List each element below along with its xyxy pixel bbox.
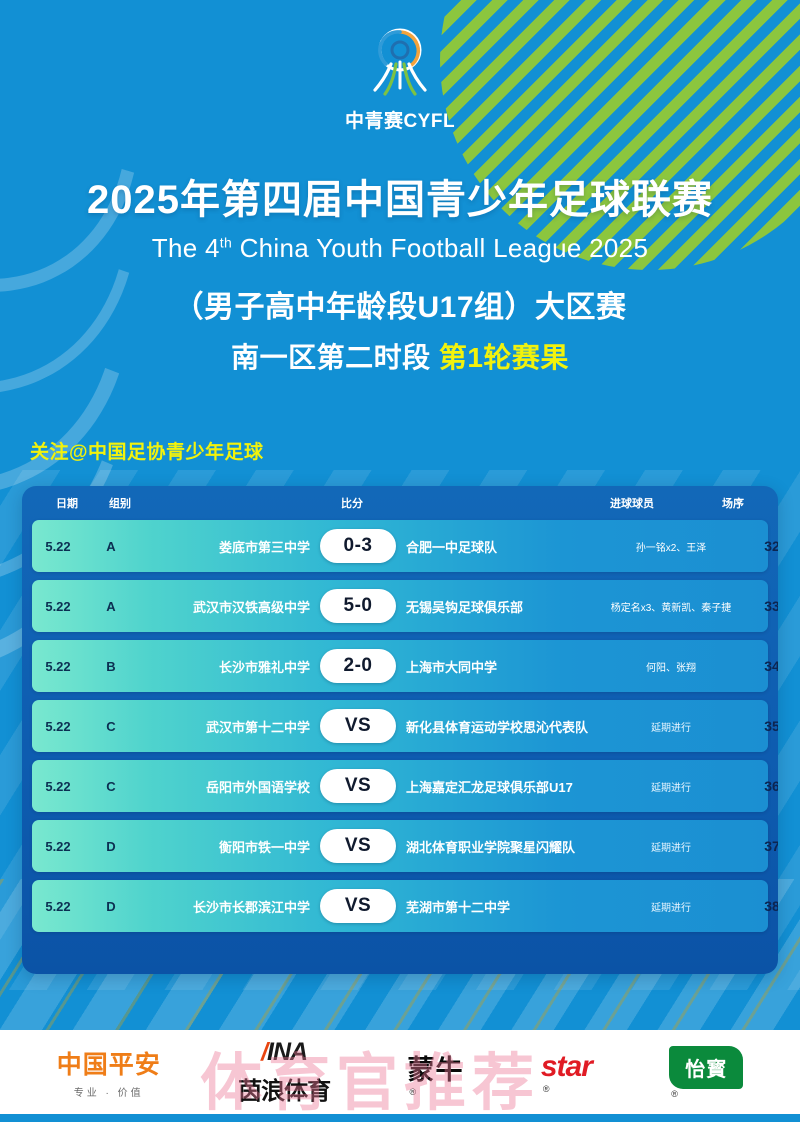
cell-order: 32: [746, 538, 778, 554]
table-row: 5.22C岳阳市外国语学校VS上海嘉定汇龙足球俱乐部U17延期进行36: [32, 760, 768, 812]
table-row: 5.22A武汉市汉铁高级中学5-0无锡吴钩足球俱乐部杨定名x3、黄新凯、秦子捷3…: [32, 580, 768, 632]
away-team-name: 上海市大同中学: [396, 657, 596, 676]
sponsor-footer: 中国平安 专业 · 价值 /INA 茵浪体育 蒙牛 ® star ® 怡寳 ®: [0, 1030, 800, 1114]
sponsor-star: star ®: [541, 1050, 592, 1094]
cell-match: 长沙市长郡滨江中学VS芜湖市第十二中学: [138, 889, 596, 923]
cell-match: 娄底市第三中学0-3合肥一中足球队: [138, 529, 596, 563]
table-row: 5.22A娄底市第三中学0-3合肥一中足球队孙一铭x2、王泽32: [32, 520, 768, 572]
subtitle-round-region: 南一区第二时段: [231, 342, 439, 373]
table-row: 5.22B长沙市雅礼中学2-0上海市大同中学何阳、张翔34: [32, 640, 768, 692]
logo-wordmark: 中青赛CYFL: [345, 106, 455, 133]
cell-scorer: 延期进行: [596, 839, 746, 854]
cell-order: 34: [746, 658, 778, 674]
score-badge: VS: [320, 829, 396, 863]
away-team-name: 合肥一中足球队: [396, 537, 596, 556]
page-title: 2025年第四届中国青少年足球联赛: [0, 178, 800, 223]
sponsor-yibao-name: 怡寳: [669, 1046, 743, 1089]
home-team-name: 武汉市汉铁高级中学: [138, 597, 320, 616]
cell-match: 武汉市第十二中学VS新化县体育运动学校思沁代表队: [138, 709, 596, 743]
cell-date: 5.22: [32, 539, 84, 554]
sponsor-yibao: 怡寳 ®: [669, 1046, 743, 1099]
cell-date: 5.22: [32, 779, 84, 794]
cell-scorer: 何阳、张翔: [596, 659, 746, 674]
home-team-name: 长沙市雅礼中学: [138, 657, 320, 676]
column-header-score: 比分: [147, 495, 557, 511]
subtitle-category: （男子高中年龄段U17组）大区赛: [0, 282, 800, 326]
sponsor-mengniu-reg: ®: [409, 1087, 416, 1097]
cell-date: 5.22: [32, 719, 84, 734]
sponsor-star-name: star: [541, 1050, 592, 1084]
cell-order: 37: [746, 838, 778, 854]
score-badge: 0-3: [320, 529, 396, 563]
score-badge: VS: [320, 769, 396, 803]
score-badge: 5-0: [320, 589, 396, 623]
home-team-name: 武汉市第十二中学: [138, 717, 320, 736]
away-team-name: 上海嘉定汇龙足球俱乐部U17: [396, 777, 596, 796]
cell-scorer: 延期进行: [596, 779, 746, 794]
follow-handle: 关注@中国足协青少年足球: [30, 437, 264, 464]
cell-match: 衡阳市铁一中学VS湖北体育职业学院聚星闪耀队: [138, 829, 596, 863]
sponsor-yibao-reg: ®: [671, 1089, 678, 1099]
subtitle-round-highlight: 第1轮赛果: [439, 342, 569, 373]
cell-match: 长沙市雅礼中学2-0上海市大同中学: [138, 649, 596, 683]
cell-scorer: 延期进行: [596, 899, 746, 914]
sponsor-ina-letters: INA: [267, 1038, 307, 1066]
sponsor-mengniu-name: 蒙牛: [407, 1048, 463, 1087]
cell-order: 35: [746, 718, 778, 734]
sponsor-pingan-name: 中国平安: [57, 1045, 161, 1081]
score-badge: VS: [320, 709, 396, 743]
cell-date: 5.22: [32, 839, 84, 854]
ordinal-suffix: th: [220, 234, 232, 250]
cell-group: C: [84, 779, 138, 794]
cell-order: 38: [746, 898, 778, 914]
column-header-scorer: 进球球员: [557, 495, 707, 511]
table-body: 5.22A娄底市第三中学0-3合肥一中足球队孙一铭x2、王泽325.22A武汉市…: [32, 520, 768, 938]
sponsor-ina-name: 茵浪体育: [238, 1071, 330, 1106]
home-team-name: 岳阳市外国语学校: [138, 777, 320, 796]
away-team-name: 芜湖市第十二中学: [396, 897, 596, 916]
home-team-name: 长沙市长郡滨江中学: [138, 897, 320, 916]
cell-group: D: [84, 899, 138, 914]
cell-match: 武汉市汉铁高级中学5-0无锡吴钩足球俱乐部: [138, 589, 596, 623]
sponsor-mengniu: 蒙牛 ®: [407, 1048, 463, 1097]
cell-scorer: 延期进行: [596, 719, 746, 734]
sponsor-star-reg: ®: [543, 1084, 550, 1094]
sponsor-ina-mark: /INA: [261, 1038, 307, 1067]
results-panel: 日期 组别 比分 进球球员 场序 5.22A娄底市第三中学0-3合肥一中足球队孙…: [22, 486, 778, 974]
cell-group: C: [84, 719, 138, 734]
away-team-name: 湖北体育职业学院聚星闪耀队: [396, 837, 596, 856]
cell-match: 岳阳市外国语学校VS上海嘉定汇龙足球俱乐部U17: [138, 769, 596, 803]
sponsor-pingan: 中国平安 专业 · 价值: [57, 1045, 161, 1099]
home-team-name: 娄底市第三中学: [138, 537, 320, 556]
away-team-name: 无锡吴钩足球俱乐部: [396, 597, 596, 616]
cell-order: 33: [746, 598, 778, 614]
score-badge: 2-0: [320, 649, 396, 683]
table-row: 5.22D长沙市长郡滨江中学VS芜湖市第十二中学延期进行38: [32, 880, 768, 932]
column-header-order: 场序: [707, 495, 759, 511]
table-row: 5.22C武汉市第十二中学VS新化县体育运动学校思沁代表队延期进行35: [32, 700, 768, 752]
home-team-name: 衡阳市铁一中学: [138, 837, 320, 856]
english-title-prefix: The 4: [152, 233, 220, 263]
title-block: 2025年第四届中国青少年足球联赛 The 4th China Youth Fo…: [0, 178, 800, 376]
english-title: The 4th China Youth Football League 2025: [0, 233, 800, 264]
cell-order: 36: [746, 778, 778, 794]
column-header-group: 组别: [93, 495, 147, 511]
cell-date: 5.22: [32, 899, 84, 914]
score-badge: VS: [320, 889, 396, 923]
cell-group: A: [84, 539, 138, 554]
cell-group: D: [84, 839, 138, 854]
table-header: 日期 组别 比分 进球球员 场序: [32, 486, 768, 520]
away-team-name: 新化县体育运动学校思沁代表队: [396, 717, 596, 736]
table-row: 5.22D衡阳市铁一中学VS湖北体育职业学院聚星闪耀队延期进行37: [32, 820, 768, 872]
cell-group: B: [84, 659, 138, 674]
sponsor-pingan-tagline: 专业 · 价值: [74, 1084, 144, 1099]
cell-date: 5.22: [32, 599, 84, 614]
english-title-suffix: China Youth Football League 2025: [232, 233, 648, 263]
column-header-date: 日期: [41, 495, 93, 511]
subtitle-round: 南一区第二时段 第1轮赛果: [0, 336, 800, 376]
cell-scorer: 孙一铭x2、王泽: [596, 539, 746, 554]
cyfl-logo-icon: [363, 24, 437, 104]
cell-scorer: 杨定名x3、黄新凯、秦子捷: [596, 599, 746, 614]
cell-date: 5.22: [32, 659, 84, 674]
league-logo: 中青赛CYFL: [0, 24, 800, 133]
cell-group: A: [84, 599, 138, 614]
sponsor-ina: /INA 茵浪体育: [238, 1038, 330, 1106]
